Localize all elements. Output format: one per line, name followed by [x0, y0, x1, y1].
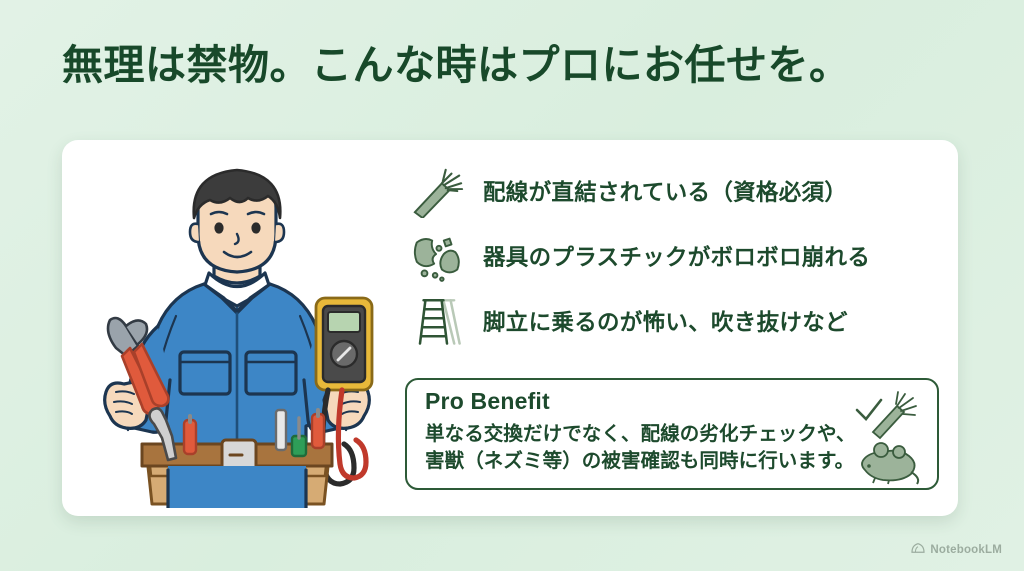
bullet-list: 配線が直結されている（資格必須）: [407, 158, 947, 353]
notebooklm-watermark: NotebookLM: [911, 541, 1002, 559]
pro-benefit-icons: [851, 386, 929, 486]
bullet-label: 器具のプラスチックがボロボロ崩れる: [483, 240, 870, 272]
check-icon: [857, 400, 881, 419]
pro-benefit-box: Pro Benefit 単なる交換だけでなく、配線の劣化チェックや、 害獣（ネズ…: [405, 378, 939, 490]
electrician-illustration: [72, 148, 402, 508]
crumbling-debris-icon: [407, 228, 469, 284]
notebooklm-icon: [911, 541, 925, 559]
content-card: 配線が直結されている（資格必須）: [62, 140, 958, 516]
step-ladder-icon: [407, 293, 469, 349]
bullet-item-ladder: 脚立に乗るのが怖い、吹き抜けなど: [407, 288, 947, 353]
page-title: 無理は禁物。こんな時はプロにお任せを。: [62, 42, 962, 89]
watermark-label: NotebookLM: [930, 544, 1002, 556]
pro-benefit-title: Pro Benefit: [425, 388, 550, 415]
bullet-item-plastic: 器具のプラスチックがボロボロ崩れる: [407, 223, 947, 288]
bullet-item-wiring: 配線が直結されている（資格必須）: [407, 158, 947, 223]
pro-benefit-line-2: 害獣（ネズミ等）の被害確認も同時に行います。: [425, 448, 880, 475]
bullet-label: 配線が直結されている（資格必須）: [483, 175, 847, 207]
frayed-wire-icon: [407, 163, 469, 219]
bullet-label: 脚立に乗るのが怖い、吹き抜けなど: [483, 305, 848, 337]
pro-benefit-line-1: 単なる交換だけでなく、配線の劣化チェックや、: [425, 421, 880, 448]
slide-root: 無理は禁物。こんな時はプロにお任せを。: [0, 0, 1024, 571]
pro-benefit-body: 単なる交換だけでなく、配線の劣化チェックや、 害獣（ネズミ等）の被害確認も同時に…: [425, 421, 880, 475]
